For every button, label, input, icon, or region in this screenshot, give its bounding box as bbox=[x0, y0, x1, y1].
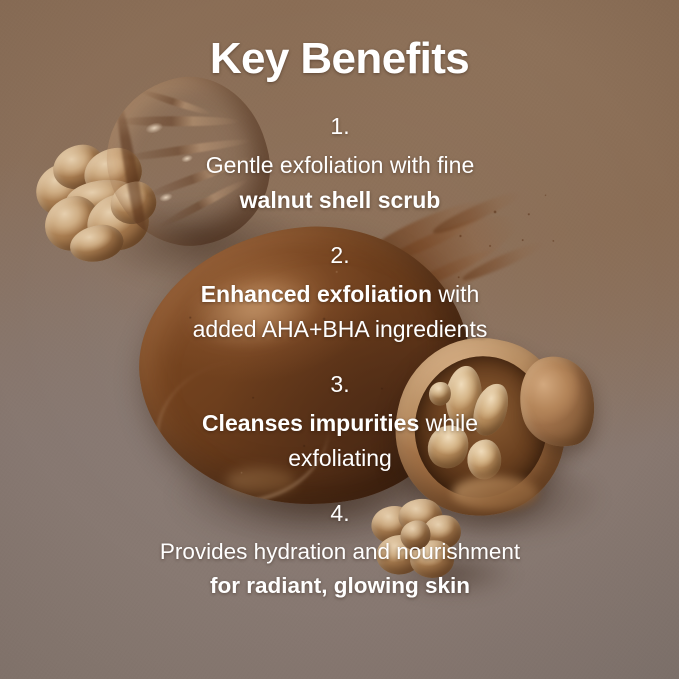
benefit-4-line-2-bold: for radiant, glowing skin bbox=[210, 573, 470, 598]
benefit-1-number: 1. bbox=[80, 112, 600, 141]
benefit-4-number: 4. bbox=[80, 499, 600, 528]
benefit-item-2: 2. Enhanced exfoliation with added AHA+B… bbox=[80, 241, 600, 347]
benefit-item-3: 3. Cleanses impurities while exfoliating bbox=[80, 370, 600, 476]
benefit-2-line-2: added AHA+BHA ingredients bbox=[80, 312, 600, 347]
benefit-3-line-1-rest: while bbox=[419, 410, 478, 436]
benefit-1-line-1: Gentle exfoliation with fine bbox=[80, 148, 600, 183]
benefit-4-line-2: for radiant, glowing skin bbox=[80, 569, 600, 603]
benefit-1-line-2-bold: walnut shell scrub bbox=[240, 187, 441, 213]
benefit-1-line-2: walnut shell scrub bbox=[80, 183, 600, 218]
benefit-item-1: 1. Gentle exfoliation with fine walnut s… bbox=[80, 112, 600, 218]
benefit-3-line-1: Cleanses impurities while bbox=[80, 406, 600, 441]
benefit-2-line-1-rest: with bbox=[432, 281, 479, 307]
page-title: Key Benefits bbox=[0, 36, 679, 82]
benefit-3-line-2: exfoliating bbox=[80, 441, 600, 476]
benefits-infographic: Key Benefits 1. Gentle exfoliation with … bbox=[0, 0, 679, 679]
benefit-item-4: 4. Provides hydration and nourishment fo… bbox=[80, 499, 600, 603]
benefit-2-line-1-bold: Enhanced exfoliation bbox=[201, 281, 432, 307]
benefit-3-number: 3. bbox=[80, 370, 600, 399]
text-overlay: Key Benefits 1. Gentle exfoliation with … bbox=[0, 0, 679, 679]
benefit-2-number: 2. bbox=[80, 241, 600, 270]
benefit-3-line-1-bold: Cleanses impurities bbox=[202, 410, 419, 436]
benefit-4-line-1: Provides hydration and nourishment bbox=[80, 535, 600, 569]
benefit-2-line-1: Enhanced exfoliation with bbox=[80, 277, 600, 312]
